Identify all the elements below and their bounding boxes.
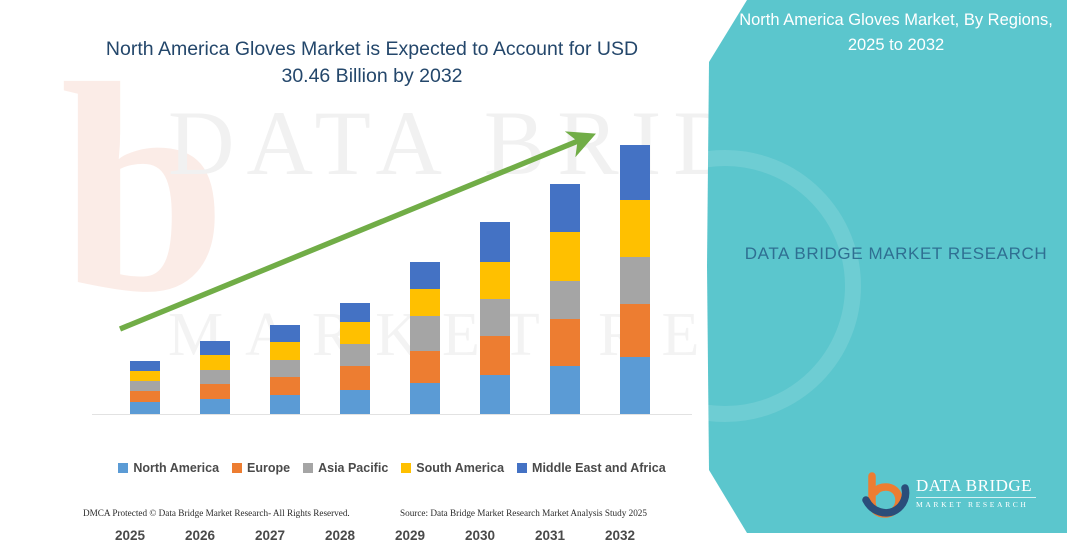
bar-segment — [550, 281, 580, 319]
bar-segment — [410, 262, 440, 289]
footer-source: Source: Data Bridge Market Research Mark… — [400, 508, 647, 518]
x-axis-label-2027: 2027 — [235, 528, 305, 543]
bar-segment — [130, 361, 160, 371]
bar-column-2026 — [180, 114, 250, 414]
bar-segment — [620, 357, 650, 414]
stacked-bar — [130, 361, 160, 414]
stacked-bar — [200, 341, 230, 414]
stacked-bar — [480, 222, 510, 414]
x-axis-label-2026: 2026 — [165, 528, 235, 543]
bar-segment — [550, 232, 580, 281]
bar-segment — [270, 325, 300, 342]
x-axis-line — [92, 414, 692, 415]
legend-swatch-icon — [118, 463, 128, 473]
bar-segment — [130, 371, 160, 381]
bar-segment — [480, 262, 510, 299]
stacked-bar — [410, 262, 440, 414]
bar-segment — [340, 390, 370, 414]
legend-swatch-icon — [303, 463, 313, 473]
bar-segment — [270, 395, 300, 414]
bar-segment — [340, 322, 370, 344]
bar-segment — [130, 391, 160, 402]
bar-segment — [620, 200, 650, 257]
bar-segment — [270, 360, 300, 377]
panel-title: North America Gloves Market, By Regions,… — [737, 8, 1055, 58]
bar-column-2031 — [530, 114, 600, 414]
bar-segment — [480, 375, 510, 414]
bar-segment — [480, 299, 510, 336]
panel-brand-text: DATA BRIDGE MARKET RESEARCH — [737, 240, 1055, 267]
bar-segment — [620, 145, 650, 200]
stacked-bar — [620, 145, 650, 414]
x-axis-label-2028: 2028 — [305, 528, 375, 543]
bar-segment — [410, 289, 440, 316]
infographic-root: b DATA BRIDGE MARKET RESEARCH North Amer… — [0, 0, 1067, 533]
bar-segment — [130, 402, 160, 414]
bar-segment — [550, 366, 580, 414]
bar-column-2029 — [390, 114, 460, 414]
legend-item[interactable]: Asia Pacific — [303, 461, 388, 475]
bar-segment — [550, 184, 580, 232]
stacked-bar — [270, 325, 300, 414]
bar-segment — [410, 383, 440, 414]
stacked-bar — [340, 303, 370, 414]
bar-column-2028 — [320, 114, 390, 414]
footer: DMCA Protected © Data Bridge Market Rese… — [0, 508, 718, 526]
bar-segment — [620, 304, 650, 357]
logo-line2: MARKET RESEARCH — [916, 500, 1042, 510]
legend-label: Asia Pacific — [318, 461, 388, 475]
legend-swatch-icon — [232, 463, 242, 473]
bar-segment — [270, 342, 300, 360]
bar-segment — [200, 355, 230, 370]
bar-segment — [620, 257, 650, 304]
stacked-bar-chart — [92, 110, 692, 415]
bar-segment — [410, 351, 440, 383]
page-title: North America Gloves Market is Expected … — [92, 36, 652, 90]
legend-item[interactable]: Middle East and Africa — [517, 461, 666, 475]
bar-segment — [340, 366, 370, 390]
bar-column-2025 — [110, 114, 180, 414]
footer-copyright: DMCA Protected © Data Bridge Market Rese… — [83, 508, 350, 518]
bar-segment — [200, 399, 230, 414]
bar-column-2032 — [600, 114, 670, 414]
legend-item[interactable]: North America — [118, 461, 219, 475]
bar-segment — [200, 341, 230, 355]
logo-divider — [916, 497, 1036, 498]
bar-segment — [130, 381, 160, 391]
logo-line1: DATA BRIDGE — [916, 476, 1042, 496]
legend-swatch-icon — [517, 463, 527, 473]
legend-swatch-icon — [401, 463, 411, 473]
bar-segment — [550, 319, 580, 366]
bar-segment — [480, 336, 510, 375]
legend-label: South America — [416, 461, 504, 475]
bar-column-2030 — [460, 114, 530, 414]
legend-item[interactable]: South America — [401, 461, 504, 475]
side-panel: North America Gloves Market, By Regions,… — [707, 0, 1067, 533]
bar-column-2027 — [250, 114, 320, 414]
x-axis-label-2025: 2025 — [95, 528, 165, 543]
bar-group — [92, 114, 692, 414]
legend-label: North America — [133, 461, 219, 475]
bridge-b-icon — [862, 472, 914, 518]
chart-legend: North AmericaEuropeAsia PacificSouth Ame… — [92, 459, 692, 477]
legend-label: Europe — [247, 461, 290, 475]
stacked-bar — [550, 184, 580, 414]
x-axis-label-2030: 2030 — [445, 528, 515, 543]
bar-segment — [270, 377, 300, 395]
x-axis-label-2029: 2029 — [375, 528, 445, 543]
bar-segment — [200, 384, 230, 399]
brand-logo: DATA BRIDGE MARKET RESEARCH — [862, 472, 1042, 520]
logo-text: DATA BRIDGE MARKET RESEARCH — [916, 476, 1042, 510]
bar-segment — [340, 344, 370, 366]
x-axis-label-2031: 2031 — [515, 528, 585, 543]
legend-item[interactable]: Europe — [232, 461, 290, 475]
bar-segment — [200, 370, 230, 384]
bar-segment — [410, 316, 440, 351]
x-axis-label-2032: 2032 — [585, 528, 655, 543]
x-axis-labels: 20252026202720282029203020312032 — [92, 528, 692, 548]
bar-segment — [340, 303, 370, 322]
legend-label: Middle East and Africa — [532, 461, 666, 475]
bar-segment — [480, 222, 510, 262]
